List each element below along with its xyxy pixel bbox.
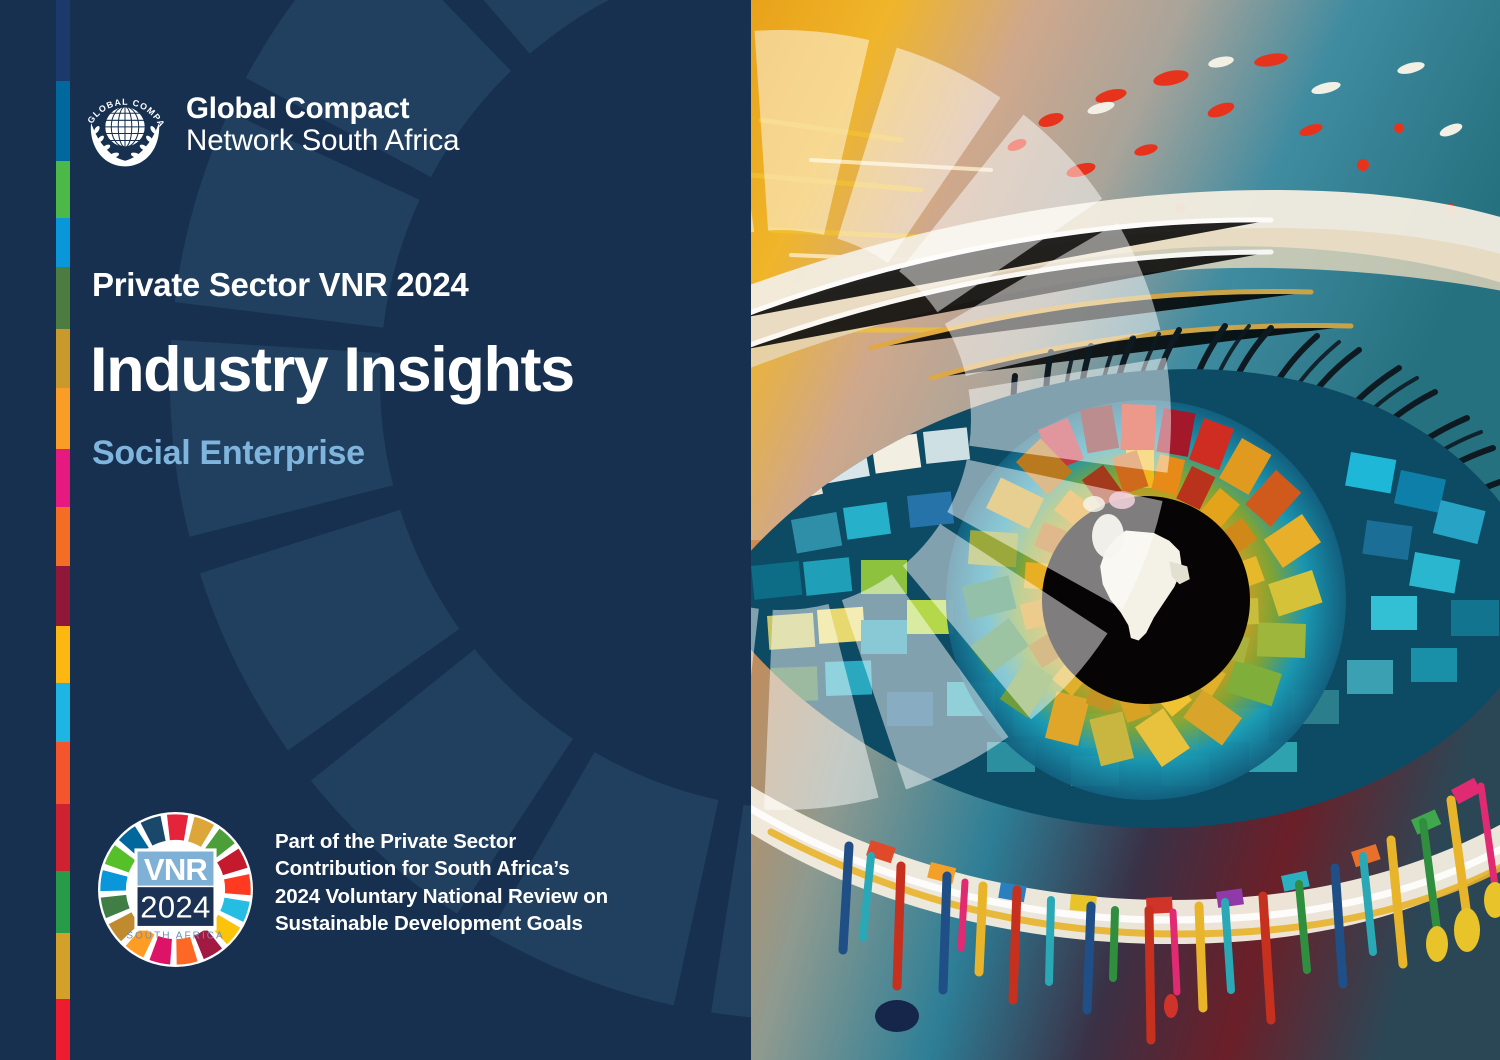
wheel-segment-15 — [393, 0, 643, 54]
cover-artwork-eye-painting — [751, 0, 1500, 1060]
un-global-compact-logo: UN GLOBAL COMPACT — [78, 78, 459, 172]
un-globe-laurel-icon: UN GLOBAL COMPACT — [78, 78, 172, 172]
stripe-segment-1 — [56, 81, 70, 161]
stripe-segment-7 — [56, 449, 70, 508]
sdg-color-stripe — [56, 0, 70, 1060]
report-kicker: Private Sector VNR 2024 — [92, 266, 468, 304]
stripe-segment-2 — [56, 161, 70, 218]
footer-caption: Part of the Private Sector Contribution … — [275, 828, 608, 937]
eye-painting-svg — [751, 0, 1500, 1060]
logo-line-1: Global Compact — [186, 94, 459, 125]
footer-line-4: Sustainable Development Goals — [275, 910, 608, 937]
wheel-segment-8 — [711, 805, 751, 1020]
badge-country-text: SOUTH AFRICA — [126, 930, 225, 941]
footer-block: VNR 2024 SOUTH AFRICA Part of the Privat… — [98, 812, 608, 967]
stripe-segment-13 — [56, 804, 70, 870]
stripe-segment-8 — [56, 507, 70, 566]
stripe-segment-4 — [56, 267, 70, 329]
page-title: Industry Insights — [90, 338, 574, 402]
stripe-segment-12 — [56, 742, 70, 804]
stripe-segment-5 — [56, 329, 70, 388]
page-subtitle: Social Enterprise — [92, 434, 365, 473]
footer-line-3: 2024 Voluntary National Review on — [275, 883, 608, 910]
stripe-segment-14 — [56, 871, 70, 933]
stripe-segment-0 — [56, 0, 70, 81]
stripe-segment-9 — [56, 566, 70, 627]
left-text-panel: UN GLOBAL COMPACT — [0, 0, 751, 1060]
cover-page: UN GLOBAL COMPACT — [0, 0, 1500, 1060]
stripe-segment-3 — [56, 218, 70, 267]
badge-year-text: 2024 — [140, 889, 211, 924]
footer-line-2: Contribution for South Africa’s — [275, 855, 608, 882]
badge-vnr-text: VNR — [144, 852, 208, 887]
stripe-segment-11 — [56, 683, 70, 742]
stripe-segment-16 — [56, 999, 70, 1060]
stripe-segment-6 — [56, 388, 70, 449]
logo-line-2: Network South Africa — [186, 125, 459, 156]
stripe-segment-10 — [56, 626, 70, 683]
vnr-2024-south-africa-badge: VNR 2024 SOUTH AFRICA — [98, 812, 253, 967]
stripe-segment-15 — [56, 933, 70, 999]
wheel-segment-11 — [200, 510, 459, 750]
footer-line-1: Part of the Private Sector — [275, 828, 608, 855]
